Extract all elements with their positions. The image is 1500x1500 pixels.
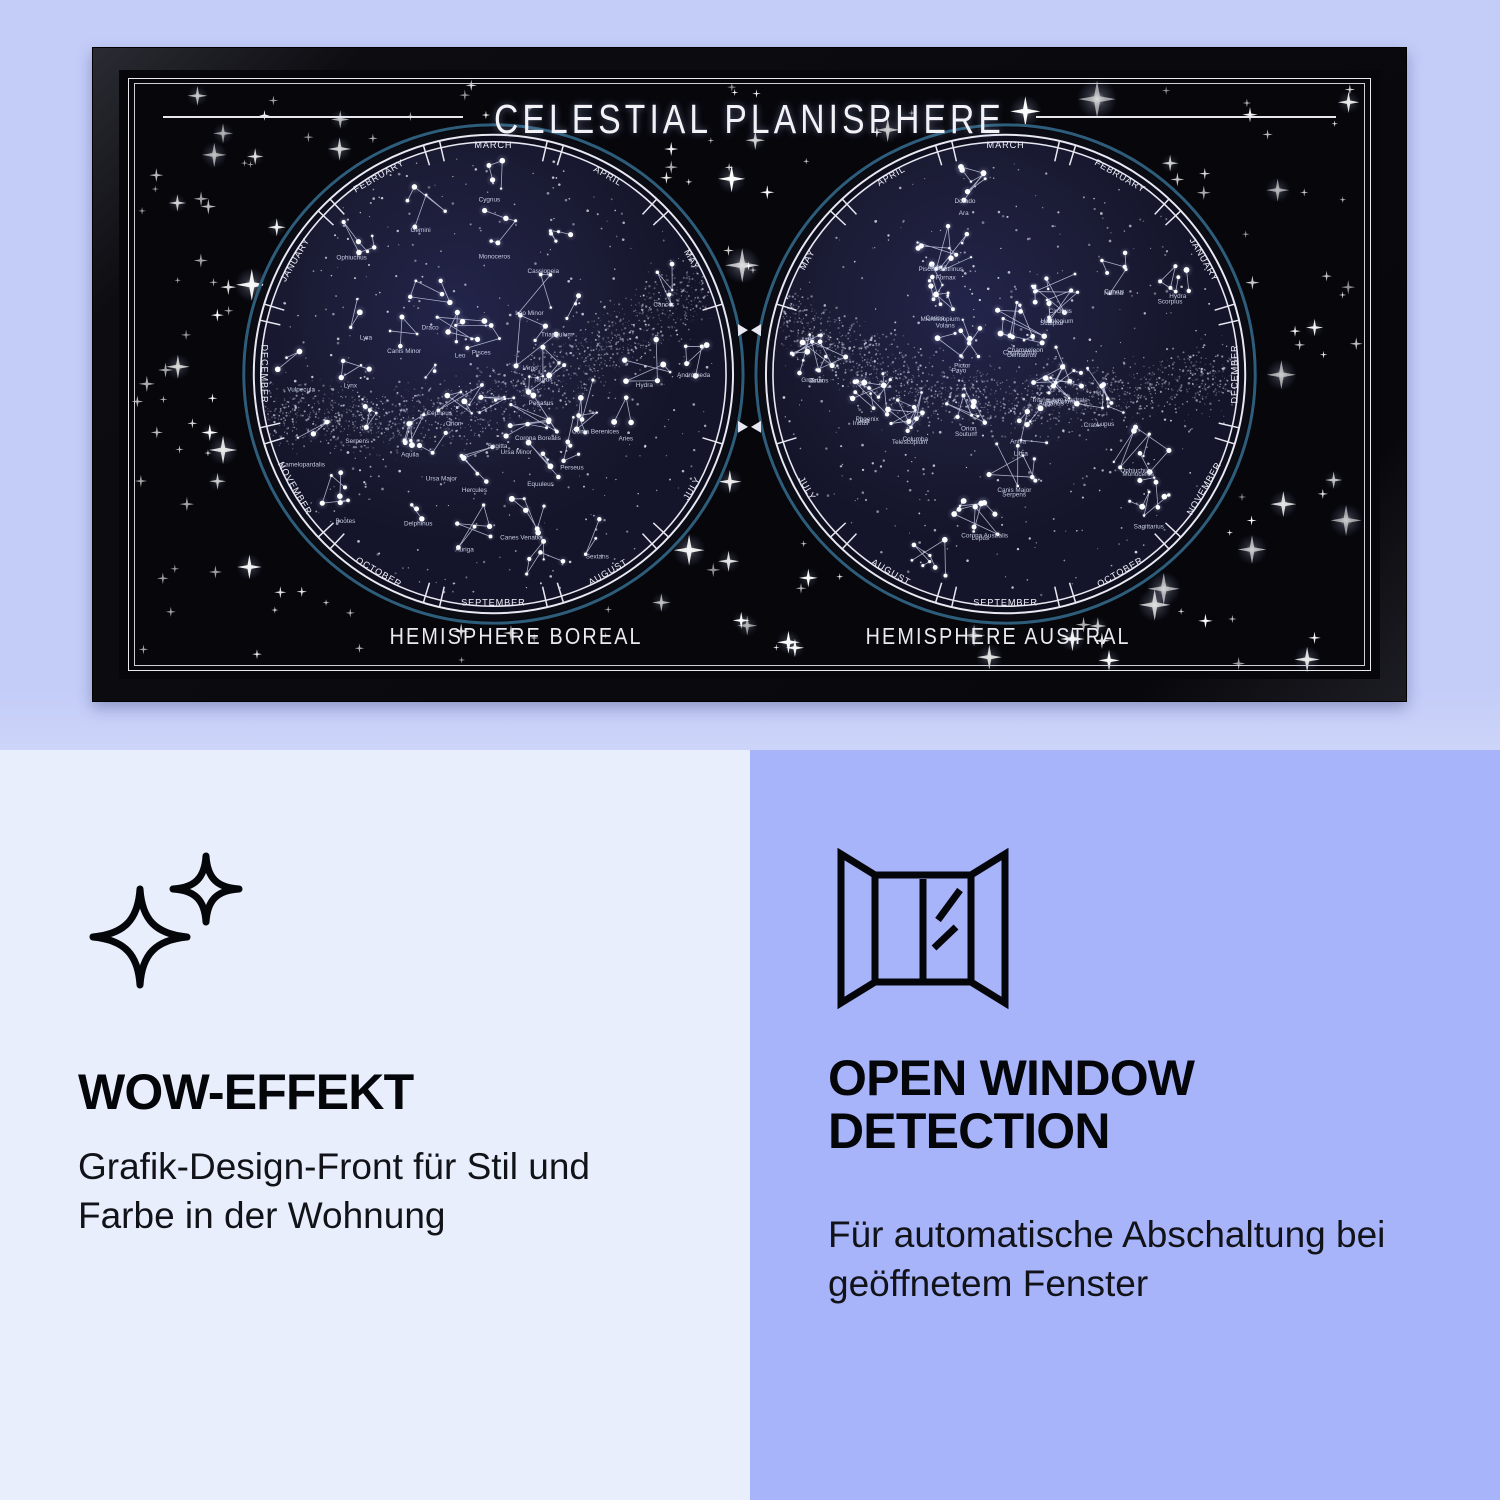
feature-panel-open-window-detection: OPEN WINDOW DETECTION Für automatische A… [750,750,1500,1500]
feature-panel-wow-effekt: WOW-EFFEKT Grafik-Design-Front für Stil … [0,750,750,1500]
poster-artwork: PegasusEquuleusDelphinusVulpeculaSagitta… [119,70,1380,679]
sparkle-icon [78,842,268,1012]
svg-text:Taurus: Taurus [533,376,552,383]
svg-text:Leo Minor: Leo Minor [515,310,544,317]
svg-text:Bootes: Bootes [336,518,356,525]
hemisphere-austral-label: HEMISPHERE AUSTRAL [865,623,1130,650]
svg-text:Cepheus: Cepheus [427,410,453,417]
svg-text:SEPTEMBER: SEPTEMBER [461,598,526,608]
svg-text:DECEMBER: DECEMBER [259,344,269,403]
open-window-icon [828,842,1018,1012]
poster-title: CELESTIAL PLANISPHERE [232,96,1266,143]
feature-heading: OPEN WINDOW DETECTION [828,1052,1440,1158]
feature-panels: WOW-EFFEKT Grafik-Design-Front für Stil … [0,750,1500,1500]
svg-text:Corona Borealis: Corona Borealis [515,435,561,442]
svg-text:Lyra: Lyra [360,334,373,341]
svg-text:Cancer: Cancer [653,302,674,309]
product-feature-collage: PegasusEquuleusDelphinusVulpeculaSagitta… [0,0,1500,1500]
svg-text:Draco: Draco [422,324,439,331]
svg-text:Delphinus: Delphinus [404,520,432,527]
hemisphere-boreal-label: HEMISPHERE BOREAL [390,623,643,650]
svg-text:Canis Minor: Canis Minor [387,348,422,355]
poster-frame: PegasusEquuleusDelphinusVulpeculaSagitta… [92,47,1407,702]
svg-text:Hercules: Hercules [462,487,487,494]
svg-text:Triangulum: Triangulum [541,332,573,339]
svg-text:Ursa Major: Ursa Major [426,475,458,482]
star-map-svg: PegasusEquuleusDelphinusVulpeculaSagitta… [119,70,1380,679]
feature-body: Grafik-Design-Front für Stil und Farbe i… [78,1142,660,1240]
svg-text:Cassiopeia: Cassiopeia [528,268,560,275]
svg-text:Equuleus: Equuleus [527,481,554,488]
svg-text:Andromeda: Andromeda [677,372,710,379]
feature-heading: WOW-EFFEKT [78,1066,690,1119]
svg-text:Vulpecula: Vulpecula [287,387,315,394]
svg-text:Orion: Orion [446,420,462,427]
svg-text:Perseus: Perseus [560,464,583,471]
svg-text:Leo: Leo [455,353,466,360]
svg-text:Pegasus: Pegasus [529,400,554,407]
svg-text:Pisces: Pisces [472,350,491,357]
svg-text:Aries: Aries [619,435,634,442]
svg-text:Virgo: Virgo [523,365,538,372]
svg-text:Cygnus: Cygnus [479,196,501,203]
hemisphere-boreal-disc: PegasusEquuleusDelphinusVulpeculaSagitta… [244,125,743,623]
svg-text:Aquila: Aquila [401,451,419,458]
sparkle-icon-svg [78,842,268,1012]
svg-text:Ophiuchus: Ophiuchus [336,254,367,261]
svg-text:Auriga: Auriga [455,547,474,554]
hemisphere-austral-disc: AquariusSculptorPiscis AustrinusGrusCapr… [756,125,1255,623]
svg-text:Ursa Minor: Ursa Minor [501,449,533,456]
svg-text:Hydra: Hydra [636,382,653,389]
hero-product-image: PegasusEquuleusDelphinusVulpeculaSagitta… [0,0,1500,750]
svg-text:Gemini: Gemini [411,227,431,234]
open-window-icon-svg [828,842,1018,1012]
svg-text:Coma Berenices: Coma Berenices [572,429,619,436]
svg-text:Sextans: Sextans [586,554,609,561]
svg-text:Monoceros: Monoceros [479,254,511,261]
feature-body: Für automatische Abschaltung bei geöffne… [828,1210,1410,1308]
svg-text:Lynx: Lynx [344,383,358,390]
star-map: PegasusEquuleusDelphinusVulpeculaSagitta… [119,70,1380,679]
svg-text:Canes Venatici: Canes Venatici [500,534,543,541]
svg-text:Serpens: Serpens [345,438,369,445]
